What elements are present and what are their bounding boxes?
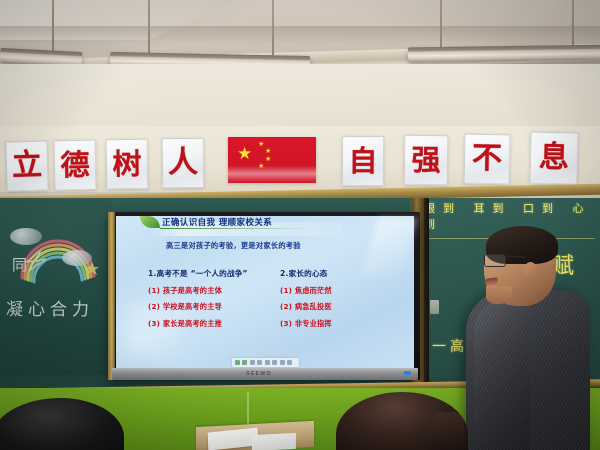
slide-column-heading: 2.家长的心态 bbox=[280, 268, 332, 279]
screen-toolbar[interactable] bbox=[232, 358, 299, 367]
more-icon[interactable] bbox=[287, 360, 292, 365]
flag-star-2: ★ bbox=[265, 148, 271, 155]
ceiling-shadow bbox=[0, 26, 600, 44]
page-icon[interactable] bbox=[242, 360, 247, 365]
brand-label: SEEWO bbox=[236, 371, 282, 377]
slide-item: (1) 孩子是高考的主体 bbox=[148, 286, 248, 296]
slide-item: (2) 病急乱投医 bbox=[280, 302, 332, 312]
slide-item: (1) 焦虑而茫然 bbox=[280, 286, 332, 296]
banner-placard-8: 息 bbox=[529, 131, 578, 184]
suspended-fluorescent-lamp-3 bbox=[408, 45, 600, 63]
slide-title-underline bbox=[160, 228, 310, 229]
chinese-national-flag: ★ ★ ★ ★ ★ bbox=[228, 137, 316, 183]
slide-column-right: 2.家长的心态 (1) 焦虑而茫然 (2) 病急乱投医 (3) 非专业指挥 bbox=[280, 268, 332, 335]
chalk-phrase-ningxinheli: 凝心合力 bbox=[6, 295, 94, 320]
slide-column-left: 1.高考不是 “一个人的战争” (1) 孩子是高考的主体 (2) 学校是高考的主… bbox=[148, 268, 248, 335]
banner-placard-5: 自 bbox=[342, 136, 384, 186]
banner-placard-7: 不 bbox=[464, 134, 511, 185]
slide-title: 正确认识自我 理顺家校关系 bbox=[162, 216, 272, 228]
save-icon[interactable] bbox=[280, 360, 285, 365]
banner-placard-6: 强 bbox=[404, 135, 449, 186]
chalk-word-2: 耳到 bbox=[474, 202, 512, 215]
eraser-icon[interactable] bbox=[265, 360, 270, 365]
pointer-icon[interactable] bbox=[250, 360, 255, 365]
banner-placard-1: 立 bbox=[5, 140, 48, 191]
paper-sheet bbox=[252, 433, 296, 450]
slide-item: (2) 学校是高考的主导 bbox=[148, 302, 248, 312]
banner-placard-4: 人 bbox=[162, 138, 204, 188]
lamp-rod-3 bbox=[272, 0, 274, 60]
teacher-chin bbox=[486, 286, 512, 304]
banner-placard-3: 树 bbox=[106, 139, 149, 190]
lamp-rod-2 bbox=[148, 0, 150, 56]
chalk-word-1: 眼到 bbox=[424, 202, 462, 215]
frame-edge-shadow bbox=[424, 198, 429, 398]
pen-icon[interactable] bbox=[257, 360, 262, 365]
grid-icon[interactable] bbox=[235, 360, 240, 365]
classroom-photo: 立 德 树 人 ★ ★ ★ ★ ★ 自 强 不 息 同 凝心合力 bbox=[0, 0, 600, 450]
chalk-cloud-1 bbox=[10, 228, 42, 245]
slide-item: (3) 非专业指挥 bbox=[280, 319, 332, 329]
flag-star-large: ★ bbox=[237, 145, 252, 162]
flag-star-4: ★ bbox=[258, 163, 264, 170]
flag-star-3: ★ bbox=[265, 156, 271, 163]
undo-icon[interactable] bbox=[272, 360, 277, 365]
lamp-rod-1 bbox=[52, 0, 54, 52]
chalk-cloud-2 bbox=[62, 250, 92, 266]
teacher-ear bbox=[524, 262, 537, 279]
slide-column-heading: 1.高考不是 “一个人的战争” bbox=[148, 268, 248, 279]
slide-subtitle: 高三是对孩子的考验，更是对家长的考验 bbox=[166, 241, 301, 251]
smart-board-left-bevel bbox=[108, 212, 115, 380]
slide-item: (3) 家长是高考的主推 bbox=[148, 319, 248, 329]
attendee-center-hair bbox=[430, 412, 464, 450]
teacher-shoulder bbox=[474, 300, 530, 450]
chalk-word-3: 口到 bbox=[523, 202, 561, 215]
chalk-char-tong: 同 bbox=[12, 254, 27, 275]
power-indicator bbox=[404, 371, 411, 375]
flag-star-1: ★ bbox=[258, 141, 264, 148]
banner-placard-2: 德 bbox=[53, 140, 96, 191]
wall-socket bbox=[430, 300, 439, 314]
